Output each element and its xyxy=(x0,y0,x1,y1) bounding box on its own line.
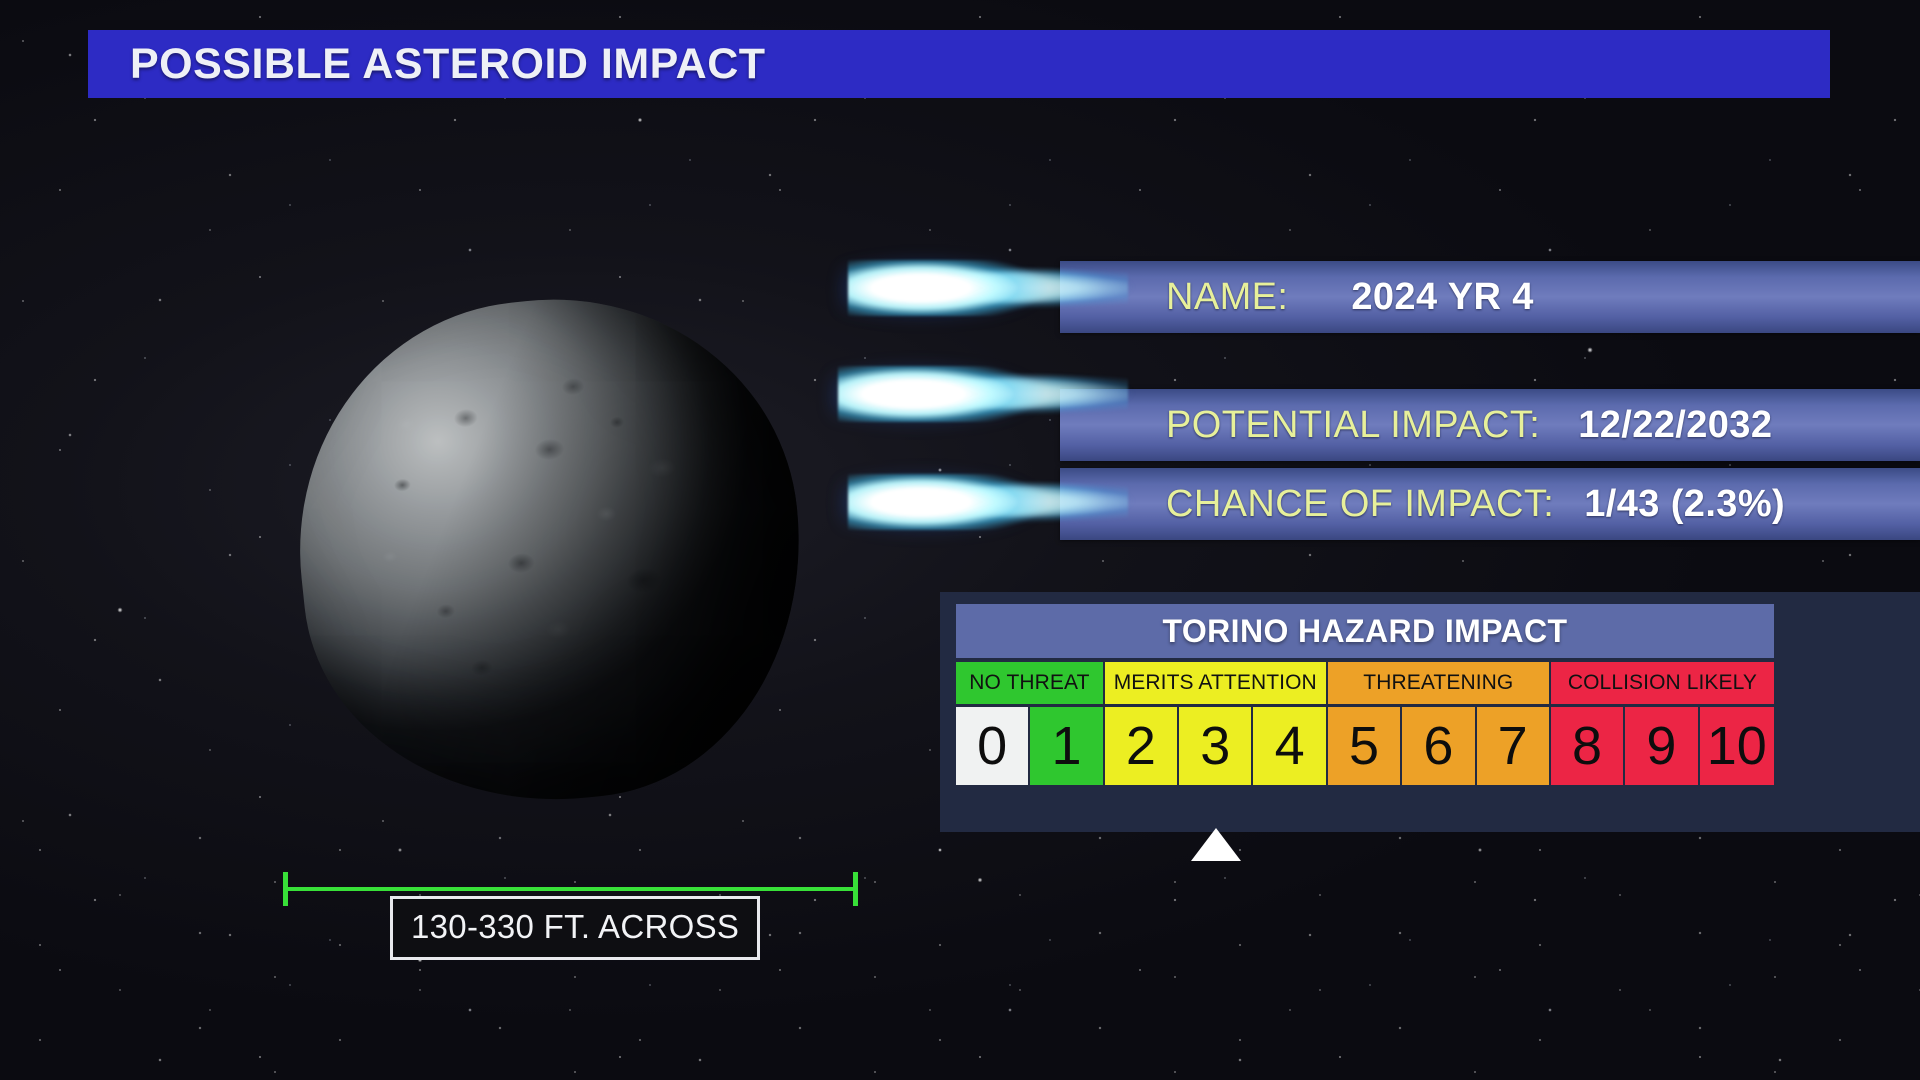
torino-band-threatening: THREATENING xyxy=(1328,662,1551,704)
torino-cell-value: 9 xyxy=(1646,715,1676,777)
torino-cell-row: 012345678910 xyxy=(956,707,1774,785)
torino-cell-10[interactable]: 10 xyxy=(1700,707,1774,785)
torino-cell-value: 10 xyxy=(1707,715,1767,777)
torino-cell-2[interactable]: 2 xyxy=(1105,707,1179,785)
torino-cell-7[interactable]: 7 xyxy=(1477,707,1551,785)
asteroid-shadow xyxy=(275,275,825,825)
asteroid-image xyxy=(300,300,800,800)
torino-cell-4[interactable]: 4 xyxy=(1253,707,1327,785)
header-banner: POSSIBLE ASTEROID IMPACT xyxy=(88,30,1830,98)
info-value-chance-of-impact: 1/43 (2.3%) xyxy=(1584,483,1785,526)
asteroid-size-label: 130-330 FT. ACROSS xyxy=(390,896,760,960)
info-bar-name: NAME: 2024 YR 4 xyxy=(1060,261,1920,333)
torino-cell-value: 1 xyxy=(1052,715,1082,777)
torino-band-collision-likely: COLLISION LIKELY xyxy=(1551,662,1774,704)
torino-cell-value: 7 xyxy=(1498,715,1528,777)
info-label-chance-of-impact: CHANCE OF IMPACT: xyxy=(1166,483,1554,526)
starfield-layer-bottom xyxy=(0,820,1920,1080)
info-bar-chance-of-impact: CHANCE OF IMPACT: 1/43 (2.3%) xyxy=(1060,468,1920,540)
torino-band-label: THREATENING xyxy=(1363,671,1513,695)
measure-cap-right xyxy=(853,872,858,906)
torino-cell-0[interactable]: 0 xyxy=(956,707,1030,785)
info-label-name: NAME: xyxy=(1166,276,1288,319)
torino-cell-value: 4 xyxy=(1275,715,1305,777)
torino-hazard-panel: TORINO HAZARD IMPACT NO THREATMERITS ATT… xyxy=(940,592,1920,832)
torino-panel-title: TORINO HAZARD IMPACT xyxy=(956,604,1774,658)
torino-cell-value: 3 xyxy=(1200,715,1230,777)
torino-cell-value: 6 xyxy=(1423,715,1453,777)
torino-band-label: MERITS ATTENTION xyxy=(1114,671,1317,695)
torino-cell-value: 8 xyxy=(1572,715,1602,777)
torino-cell-value: 2 xyxy=(1126,715,1156,777)
starfield-layer-medium xyxy=(0,0,1920,1080)
page-title: POSSIBLE ASTEROID IMPACT xyxy=(88,40,766,89)
torino-cell-3[interactable]: 3 xyxy=(1179,707,1253,785)
torino-cell-1[interactable]: 1 xyxy=(1030,707,1104,785)
torino-band-no-threat: NO THREAT xyxy=(956,662,1105,704)
torino-cell-value: 0 xyxy=(977,715,1007,777)
torino-panel-inner: TORINO HAZARD IMPACT NO THREATMERITS ATT… xyxy=(956,604,1774,785)
torino-cell-value: 5 xyxy=(1349,715,1379,777)
broadcast-graphic-stage: POSSIBLE ASTEROID IMPACT 130-330 FT. ACR… xyxy=(0,0,1920,1080)
info-label-potential-impact: POTENTIAL IMPACT: xyxy=(1166,404,1540,447)
starfield-layer-large xyxy=(0,0,1920,1080)
info-value-name: 2024 YR 4 xyxy=(1351,276,1534,319)
torino-current-level-marker xyxy=(1191,828,1241,861)
torino-cell-6[interactable]: 6 xyxy=(1402,707,1476,785)
torino-band-merits-attention: MERITS ATTENTION xyxy=(1105,662,1328,704)
torino-cell-5[interactable]: 5 xyxy=(1328,707,1402,785)
info-bar-potential-impact: POTENTIAL IMPACT: 12/22/2032 xyxy=(1060,389,1920,461)
measure-rail xyxy=(283,887,858,891)
starfield-layer-small xyxy=(0,0,1920,1080)
torino-cell-9[interactable]: 9 xyxy=(1625,707,1699,785)
torino-band-label: NO THREAT xyxy=(969,671,1089,695)
info-value-potential-impact: 12/22/2032 xyxy=(1578,404,1772,447)
torino-cell-8[interactable]: 8 xyxy=(1551,707,1625,785)
torino-band-row: NO THREATMERITS ATTENTIONTHREATENINGCOLL… xyxy=(956,662,1774,704)
torino-band-label: COLLISION LIKELY xyxy=(1568,671,1757,695)
